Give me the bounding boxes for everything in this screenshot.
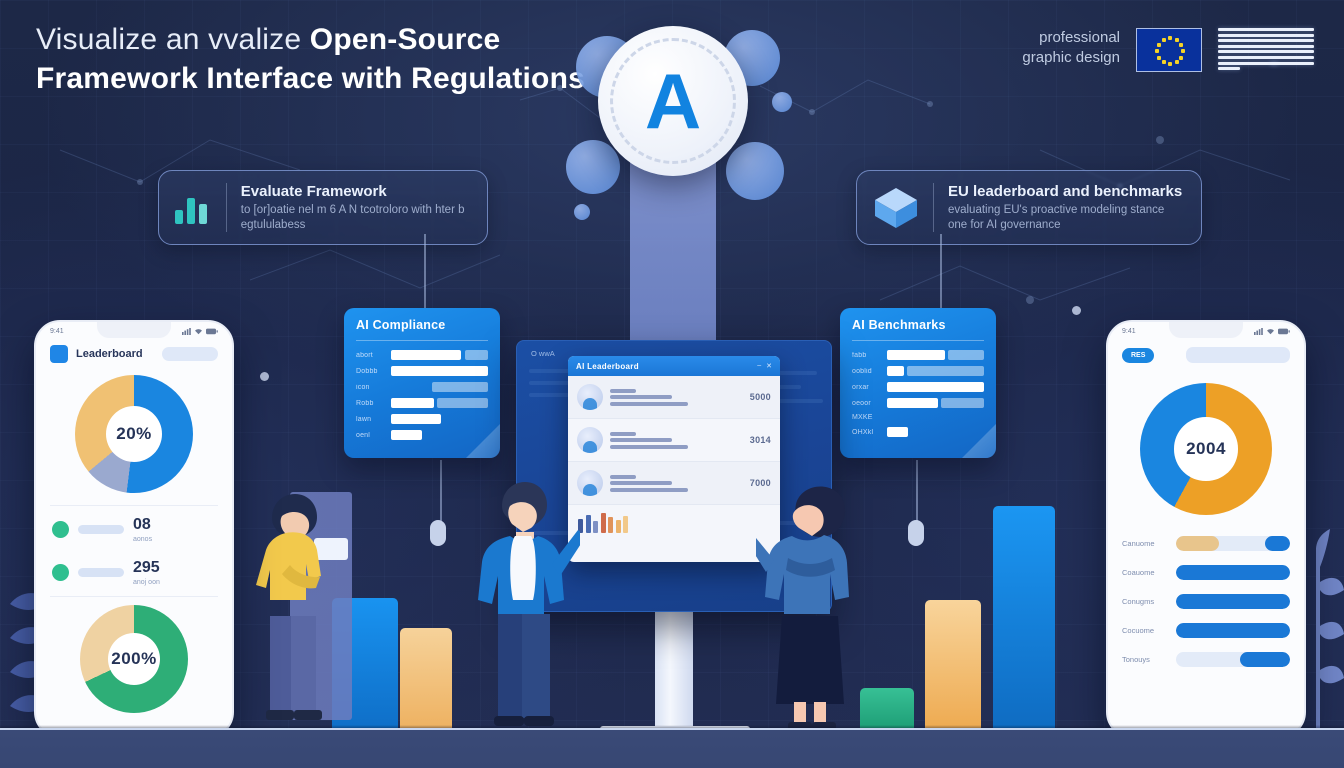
donut-center-label: 2004: [1174, 417, 1237, 480]
row-label: abort: [356, 352, 384, 359]
table-row[interactable]: 5000: [568, 376, 780, 419]
card-row: OHXkl: [852, 427, 984, 437]
row-label: oenl: [356, 432, 384, 439]
stripe-line: [1218, 39, 1314, 42]
card-row: oenl: [356, 430, 488, 440]
phone-app-header: RES: [1108, 335, 1304, 367]
progress-label: Tonouys: [1122, 655, 1166, 664]
stat-row: 295 anoj oon: [36, 551, 232, 594]
node-circle: [772, 92, 792, 112]
progress-row: Tonouys: [1108, 645, 1304, 674]
card-title: AI Benchmarks: [852, 318, 984, 332]
battery-icon: [1278, 328, 1290, 335]
chart-bar-blue-right: [993, 506, 1055, 728]
row-bar: [391, 398, 434, 408]
leaderboard-rows: 500030147000: [568, 376, 780, 505]
row-bar: [391, 350, 461, 360]
donut-center-label: 200%: [108, 633, 160, 685]
node-circle: [566, 140, 620, 194]
status-time: 9:41: [50, 328, 64, 335]
progress-fill: [1176, 594, 1290, 609]
card-ai-compliance[interactable]: AI Compliance abortDobbbiconRobblawnoenl: [344, 308, 500, 458]
person-business-woman: [756, 474, 868, 734]
row-label: oeoor: [852, 400, 880, 407]
card-row: abort: [356, 350, 488, 360]
table-row[interactable]: 3014: [568, 419, 780, 462]
stat-value: 295: [133, 559, 160, 577]
flag-star: [1168, 62, 1172, 66]
brand-line-2: graphic design: [1022, 48, 1120, 68]
callout-eu-leaderboard[interactable]: EU leaderboard and benchmarks evaluating…: [856, 170, 1202, 245]
row-bar: [391, 414, 441, 424]
flag-star: [1162, 38, 1166, 42]
donut-chart-top: 20%: [75, 375, 193, 493]
cable-connector: [430, 520, 446, 546]
row-bar: [887, 382, 984, 392]
progress-label: Conugms: [1122, 597, 1166, 606]
leaderboard-window[interactable]: AI Leaderboard – ✕ 500030147000: [568, 356, 780, 562]
card-row: oeoor: [852, 398, 984, 408]
card-row: orxar: [852, 382, 984, 392]
grade-a-badge: A: [598, 26, 748, 176]
status-icons: [182, 328, 218, 335]
flag-star: [1157, 43, 1161, 47]
row-bars: [391, 350, 488, 360]
row-bar: [887, 398, 938, 408]
callout-subtitle: evaluating EU's proactive modeling stanc…: [948, 203, 1185, 232]
row-placeholder-lines: [610, 389, 743, 406]
progress-label: Cocuome: [1122, 626, 1166, 635]
progress-fill: [1176, 623, 1290, 638]
card-row: lawn: [356, 414, 488, 424]
row-bars: [391, 366, 488, 376]
stat-row: 08 aonos: [36, 508, 232, 551]
progress-row: Canuome: [1108, 529, 1304, 558]
stripe-line: [1218, 50, 1314, 53]
connector-line: [440, 460, 442, 526]
status-time: 9:41: [1122, 328, 1136, 335]
flag-star: [1155, 49, 1159, 53]
flag-star: [1162, 60, 1166, 64]
phone-mockup-leaderboard[interactable]: 9:41 Leaderboard 20% 08 aonos: [34, 320, 234, 738]
progress-track: [1176, 536, 1290, 551]
row-bar: [887, 350, 945, 360]
close-icon[interactable]: ✕: [766, 362, 772, 370]
minimize-icon[interactable]: –: [757, 362, 761, 370]
progress-track: [1176, 565, 1290, 580]
row-placeholder-lines: [610, 432, 743, 449]
row-label: Dobbb: [356, 368, 384, 375]
phone-app-header: Leaderboard: [36, 335, 232, 367]
cube-icon: [873, 186, 919, 230]
divider: [226, 183, 227, 232]
table-row[interactable]: 7000: [568, 462, 780, 505]
connector-dot: [1072, 306, 1081, 315]
wifi-icon: [1266, 328, 1275, 335]
mini-bar: [601, 513, 606, 533]
row-bars: [887, 382, 984, 392]
node-circle: [574, 204, 590, 220]
divider: [933, 183, 934, 232]
row-label: orxar: [852, 384, 880, 391]
stripes-mark-icon: [1218, 28, 1314, 74]
progress-label: Canuome: [1122, 539, 1166, 548]
row-label: OHXkl: [852, 429, 880, 436]
filter-badge[interactable]: RES: [1122, 348, 1154, 363]
floor-strip: [0, 728, 1344, 768]
callout-title: Evaluate Framework: [241, 183, 471, 200]
row-label: icon: [356, 384, 384, 391]
card-row: fabb: [852, 350, 984, 360]
progress-track: [1176, 594, 1290, 609]
row-placeholder-lines: [610, 475, 743, 492]
title-line1-regular: Visualize an vvalize: [36, 23, 310, 56]
search-field[interactable]: [1186, 347, 1290, 363]
row-bar: [432, 382, 488, 392]
callout-title: EU leaderboard and benchmarks: [948, 183, 1185, 200]
row-bar: [391, 430, 422, 440]
avatar: [577, 427, 603, 453]
progress-bar-list: CanuomeCoauomeConugmsCocuomeTonouys: [1108, 529, 1304, 674]
row-bar: [391, 366, 488, 376]
mini-bar: [586, 515, 591, 533]
row-bars: [391, 430, 488, 440]
row-label: ooblid: [852, 368, 880, 375]
chart-bar-orange-right: [925, 600, 981, 728]
bar-chart-icon: [175, 192, 212, 224]
row-bars: [391, 382, 488, 392]
row-bar: [887, 427, 908, 437]
card-row: Dobbb: [356, 366, 488, 376]
phone-mockup-results[interactable]: 9:41 RES 2004 CanuomeCoauomeConugmsCocuo…: [1106, 320, 1306, 738]
callout-evaluate-framework[interactable]: Evaluate Framework to [or]oatie nel m 6 …: [158, 170, 488, 245]
brand-line-1: professional: [1022, 28, 1120, 48]
donut-chart-main: 2004: [1140, 383, 1272, 515]
connector-dot: [260, 372, 269, 381]
stat-caption: aonos: [133, 536, 152, 543]
card-rows: fabbooblidorxaroeoorMXKEOHXkl: [852, 350, 984, 437]
mini-bar: [616, 520, 621, 533]
flag-star: [1168, 36, 1172, 40]
flag-star: [1175, 38, 1179, 42]
phone-notch: [1169, 322, 1243, 338]
progress-row: Coauome: [1108, 558, 1304, 587]
progress-tail: [1240, 652, 1290, 667]
row-bars: [391, 398, 488, 408]
target-icon: [52, 564, 69, 581]
stripe-line: [1218, 62, 1278, 65]
row-bars: [391, 414, 488, 424]
signal-icon: [1254, 328, 1263, 335]
mini-bar-chart: [568, 505, 780, 541]
row-bar: [941, 398, 984, 408]
poster-canvas: Visualize an vvalize Open-Source Framewo…: [0, 0, 1344, 768]
divider: [356, 340, 488, 341]
row-bar: [948, 350, 984, 360]
refresh-icon: [52, 521, 69, 538]
row-label: Robb: [356, 400, 384, 407]
app-title: Leaderboard: [76, 348, 143, 360]
card-row: Robb: [356, 398, 488, 408]
title-line1-bold: Open-Source: [310, 23, 501, 56]
row-bars: [887, 366, 984, 376]
flag-star: [1179, 56, 1183, 60]
app-logo-icon: [50, 345, 68, 363]
avatar: [577, 384, 603, 410]
grade-letter: A: [645, 62, 701, 140]
avatar: [577, 470, 603, 496]
row-value: 5000: [750, 392, 771, 402]
row-bar: [437, 398, 488, 408]
chart-bar-green-right: [860, 688, 914, 728]
wifi-icon: [194, 328, 203, 335]
brand-mark: professional graphic design: [1022, 28, 1314, 74]
status-icons: [1254, 328, 1290, 335]
callout-subtitle: to [or]oatie nel m 6 A N tcotroloro with…: [241, 203, 471, 232]
phone-notch: [97, 322, 171, 338]
window-title: AI Leaderboard: [576, 362, 639, 371]
stripe-line: [1218, 56, 1314, 59]
window-titlebar: AI Leaderboard – ✕: [568, 356, 780, 376]
divider: [852, 340, 984, 341]
progress-fill: [1176, 565, 1290, 580]
person-yellow-sweater: [252, 478, 360, 730]
progress-label: Coauome: [1122, 568, 1166, 577]
row-bar: [887, 366, 904, 376]
search-pill[interactable]: [162, 347, 218, 361]
stat-caption: anoj oon: [133, 579, 160, 586]
flag-star: [1157, 56, 1161, 60]
divider: [50, 505, 218, 506]
stripe-line: [1270, 62, 1314, 65]
progress-track: [1176, 623, 1290, 638]
card-row: icon: [356, 382, 488, 392]
stat-value: 08: [133, 516, 152, 534]
divider: [50, 596, 218, 597]
progress-tail: [1265, 536, 1290, 551]
row-bars: [887, 350, 984, 360]
person-blue-jacket: [468, 474, 580, 732]
stat-track: [78, 525, 124, 534]
row-bar: [465, 350, 488, 360]
card-row: MXKE: [852, 414, 984, 421]
connector-line: [916, 460, 918, 526]
mini-bar: [608, 517, 613, 533]
row-label: lawn: [356, 416, 384, 423]
flag-star: [1179, 43, 1183, 47]
eu-flag-icon: [1136, 28, 1202, 72]
row-value: 3014: [750, 435, 771, 445]
connector-line: [424, 234, 426, 310]
donut-center-label: 20%: [106, 406, 163, 463]
row-bars: [887, 398, 984, 408]
card-ai-benchmarks[interactable]: AI Benchmarks fabbooblidorxaroeoorMXKEOH…: [840, 308, 996, 458]
row-label: fabb: [852, 352, 880, 359]
stripe-line: [1218, 45, 1314, 48]
cable-connector: [908, 520, 924, 546]
monitor-stand: [655, 612, 693, 730]
stat-track: [78, 568, 124, 577]
row-bar: [907, 366, 984, 376]
donut-chart-bottom: 200%: [80, 605, 188, 713]
connector-line: [940, 234, 942, 310]
card-rows: abortDobbbiconRobblawnoenl: [356, 350, 488, 440]
signal-icon: [182, 328, 191, 335]
stripe-line: [1218, 34, 1314, 37]
battery-icon: [206, 328, 218, 335]
row-label: MXKE: [852, 414, 880, 421]
chart-bar-tan-left: [400, 628, 452, 728]
row-bars: [887, 427, 984, 437]
progress-row: Conugms: [1108, 587, 1304, 616]
card-row: ooblid: [852, 366, 984, 376]
progress-track: [1176, 652, 1290, 667]
flag-star: [1181, 49, 1185, 53]
progress-fill: [1176, 536, 1219, 551]
progress-row: Cocuome: [1108, 616, 1304, 645]
node-circle: [726, 142, 784, 200]
stripe-line: [1218, 28, 1314, 31]
flag-star: [1175, 60, 1179, 64]
card-title: AI Compliance: [356, 318, 488, 332]
mini-bar: [623, 516, 628, 533]
mini-bar: [593, 521, 598, 533]
stripe-line: [1218, 67, 1240, 70]
window-controls[interactable]: – ✕: [757, 362, 772, 370]
